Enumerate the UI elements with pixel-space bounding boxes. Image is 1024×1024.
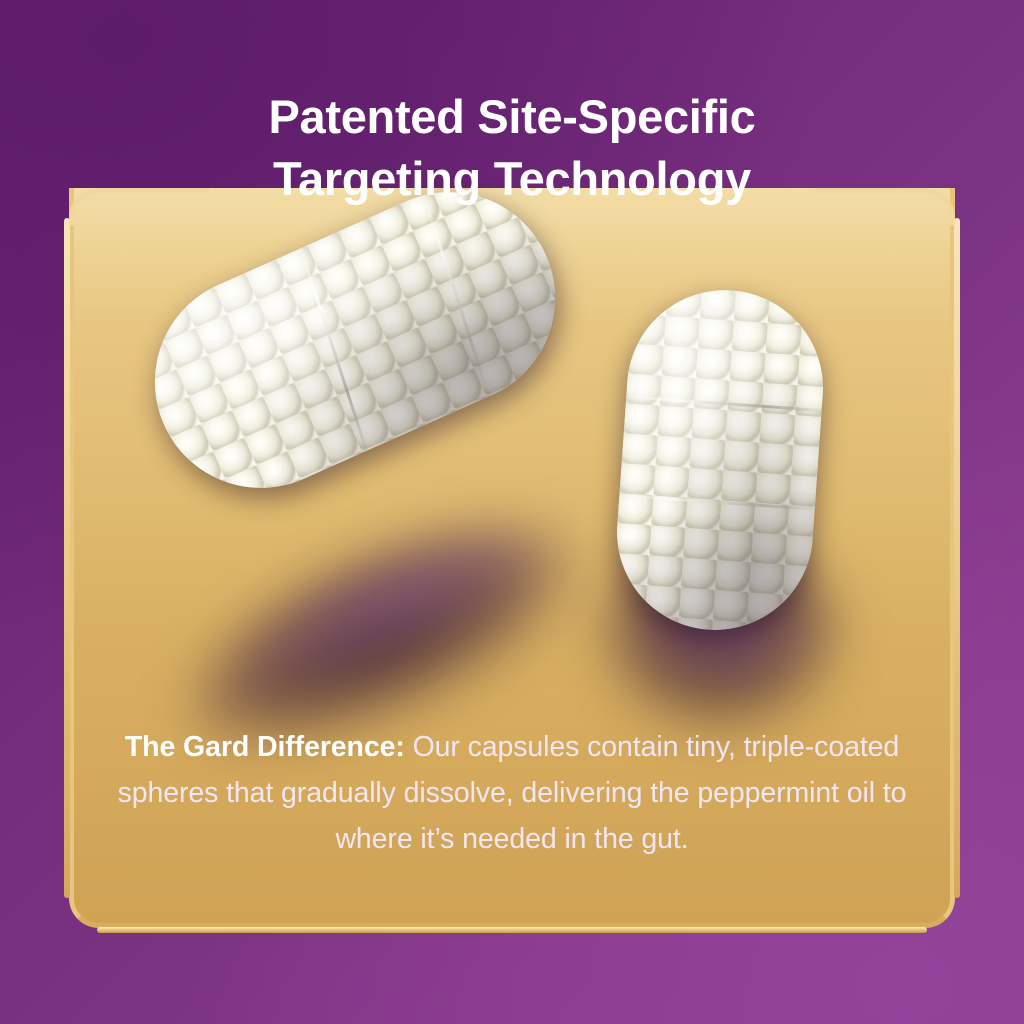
capsule-right [610,284,829,637]
capsule-left-spheres [121,158,589,522]
promo-poster: Patented Site-Specific Targeting Technol… [0,0,1024,1024]
page-title-line-2: Targeting Technology [0,148,1024,210]
page-title: Patented Site-Specific Targeting Technol… [0,86,1024,210]
product-image-stage [0,210,1024,710]
page-title-line-1: Patented Site-Specific [0,86,1024,148]
gold-frame-bottom-edge [97,927,927,933]
body-copy-lead: The Gard Difference: [125,731,405,763]
body-copy: The Gard Difference: Our capsules contai… [112,724,912,862]
capsule-right-spheres [610,284,829,637]
capsule-left [121,158,589,522]
